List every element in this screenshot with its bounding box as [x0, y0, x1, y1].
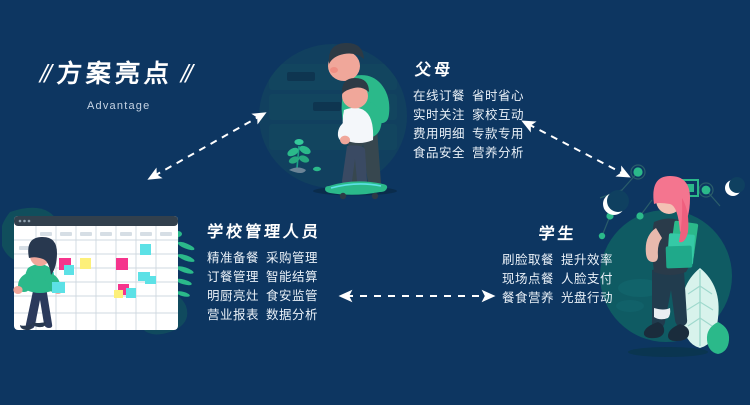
- line-right: 光盘行动: [561, 291, 613, 305]
- line-right: 智能结算: [266, 270, 318, 284]
- line-right: 数据分析: [266, 308, 318, 322]
- group-student-line-2: 现场点餐人脸支付: [502, 270, 613, 289]
- group-parents-line-4: 食品安全营养分析: [413, 144, 524, 163]
- group-parents-line-1: 在线订餐省时省心: [413, 87, 524, 106]
- line-left: 食品安全: [413, 146, 465, 160]
- slash-right-icon: //: [181, 60, 190, 87]
- group-parents-line-3: 费用明细专款专用: [413, 125, 524, 144]
- woman-with-calendar-board-illustration: [2, 198, 202, 338]
- group-school: 学校管理人员 精准备餐采购管理 订餐管理智能结算 明厨亮灶食安监管 营业报表数据…: [207, 224, 321, 325]
- line-left: 订餐管理: [207, 270, 259, 284]
- line-left: 刷脸取餐: [502, 253, 554, 267]
- line-left: 实时关注: [413, 108, 465, 122]
- group-school-line-2: 订餐管理智能结算: [207, 268, 321, 287]
- slash-left-icon: //: [40, 60, 49, 87]
- group-parents: 父母 在线订餐省时省心 实时关注家校互动 费用明细专款专用 食品安全营养分析: [413, 62, 524, 163]
- group-student-line-3: 餐食营养光盘行动: [502, 289, 613, 308]
- line-right: 提升效率: [561, 253, 613, 267]
- arrow-parents-to-student: [518, 112, 638, 192]
- line-right: 家校互动: [472, 108, 524, 122]
- group-school-line-4: 营业报表数据分析: [207, 306, 321, 325]
- line-left: 精准备餐: [207, 251, 259, 265]
- line-right: 食安监管: [266, 289, 318, 303]
- arrow-school-to-student: [336, 286, 498, 306]
- poster-stage: // 方案亮点 // Advantage: [0, 0, 750, 405]
- group-parents-heading: 父母: [414, 62, 524, 78]
- parent-and-child-skateboard-illustration: [255, 28, 420, 208]
- group-school-line-1: 精准备餐采购管理: [207, 249, 321, 268]
- line-right: 人脸支付: [561, 272, 613, 286]
- page-title-text: 方案亮点: [56, 61, 174, 86]
- line-left: 费用明细: [413, 127, 465, 141]
- line-left: 餐食营养: [502, 291, 554, 305]
- line-right: 省时省心: [472, 89, 524, 103]
- line-right: 采购管理: [266, 251, 318, 265]
- line-left: 营业报表: [207, 308, 259, 322]
- title-row: // 方案亮点 //: [40, 60, 270, 87]
- line-left: 现场点餐: [502, 272, 554, 286]
- arrow-title-to-parents: [140, 100, 275, 190]
- line-left: 明厨亮灶: [207, 289, 259, 303]
- line-right: 专款专用: [472, 127, 524, 141]
- group-school-heading: 学校管理人员: [206, 224, 321, 240]
- line-left: 在线订餐: [413, 89, 465, 103]
- group-student: 学生 刷脸取餐提升效率 现场点餐人脸支付 餐食营养光盘行动: [502, 226, 613, 308]
- group-student-heading: 学生: [501, 226, 613, 242]
- group-student-line-1: 刷脸取餐提升效率: [502, 251, 613, 270]
- group-parents-line-2: 实时关注家校互动: [413, 106, 524, 125]
- group-school-line-3: 明厨亮灶食安监管: [207, 287, 321, 306]
- line-right: 营养分析: [472, 146, 524, 160]
